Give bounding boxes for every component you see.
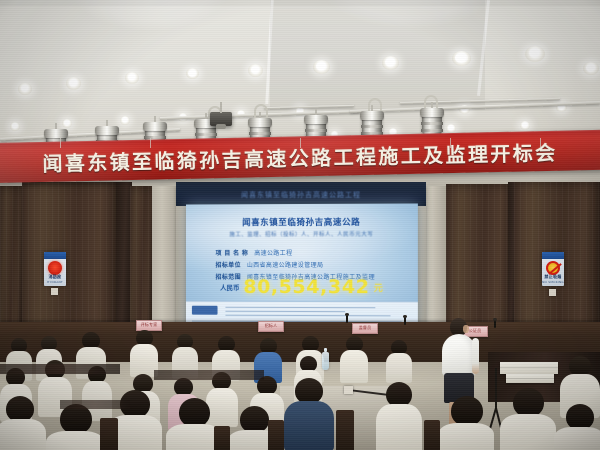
name-placard: 监督员 [352, 323, 378, 334]
sign-header-bar [542, 252, 564, 259]
wood-panel-right-inner [446, 184, 512, 338]
audience-person [386, 340, 412, 382]
placard-text: 评标专家 [137, 321, 161, 329]
chair [424, 420, 440, 450]
amount-prefix: 人民币 [220, 284, 239, 292]
sign-caption-sub: NO SMOKING [542, 280, 564, 284]
chair [268, 420, 284, 450]
slide-row: 项 目 名 称高速公路工程 [216, 248, 293, 257]
projector [210, 112, 232, 126]
downlight-icon [313, 60, 330, 74]
downlight-icon [66, 77, 81, 90]
slide-footer-line [225, 311, 345, 312]
person-shirt [284, 401, 334, 450]
document-stack [506, 374, 554, 383]
person-head [179, 398, 210, 427]
slide-row: 招标单位山西省高速公路建设管理局 [216, 260, 324, 269]
sign-caption-sub: FIRE HYDRANT [44, 276, 66, 284]
person-shirt [386, 353, 412, 383]
microphone [404, 317, 406, 325]
person-shirt [442, 334, 476, 376]
audience-person-foreground [554, 404, 600, 450]
slide-footer-line [225, 315, 390, 317]
amount-value: 80,554,342 [243, 276, 369, 298]
person-head [513, 388, 544, 417]
person-face [463, 325, 469, 333]
name-placard: 招标人 [258, 321, 284, 332]
screen-top-strip: 闻喜东镇至临猗孙吉高速公路工程 [176, 182, 426, 206]
document-stack [500, 362, 558, 374]
downlight-icon [525, 46, 545, 62]
slide-bid-amount: 人民币80,554,342元 [186, 276, 418, 298]
person-shirt [46, 431, 104, 450]
person-shirt [500, 414, 556, 450]
slide-subtitle: 施工、监理、招标（投标）人、开标人、人民币元大写 [186, 230, 418, 239]
placard-text: 监督员 [353, 324, 377, 332]
slide-row-label: 项 目 名 称 [216, 250, 249, 257]
person-shirt [438, 423, 494, 450]
person-head [240, 406, 269, 433]
projection-screen: 闻喜东镇至临猗孙吉高速公路 施工、监理、招标（投标）人、开标人、人民币元大写 项… [186, 203, 418, 328]
fire-icon [48, 261, 62, 275]
downlight-icon [120, 116, 130, 125]
slide-title: 闻喜东镇至临猗孙吉高速公路 [186, 216, 418, 229]
downlight-icon [186, 68, 199, 79]
downlight-icon [62, 119, 72, 128]
chair [100, 418, 118, 450]
chair [336, 410, 354, 450]
microphone [494, 320, 496, 328]
audience-desk [0, 364, 120, 374]
slide-row-value: 高速公路工程 [254, 250, 292, 257]
rail-hook [254, 104, 268, 118]
audience-desk [154, 370, 264, 380]
amount-unit: 元 [374, 284, 383, 294]
downlight-icon [452, 51, 471, 66]
downlight-icon [10, 122, 20, 131]
ceiling [0, 0, 600, 152]
wood-door-left [22, 182, 118, 338]
slide-row-label: 招标单位 [216, 262, 241, 269]
water-bottle [322, 352, 329, 370]
audience-person [340, 336, 368, 382]
downlight-icon [446, 124, 456, 133]
audience-person-foreground [0, 396, 46, 450]
banner-strings [0, 138, 600, 148]
conference-photo: 消防栓 FIRE HYDRANT 禁止吸烟 NO SMOKING 闻喜东镇至临猗… [0, 0, 600, 450]
floor-socket [344, 386, 353, 394]
audience-desk [60, 400, 130, 409]
person-arm [472, 338, 479, 374]
audience-person-foreground [284, 378, 334, 450]
placard-text: 招标人 [259, 322, 283, 330]
wood-panel-left-inner [130, 186, 152, 336]
switch-box[interactable] [51, 288, 58, 295]
person-shirt [554, 427, 600, 450]
person-head [569, 356, 591, 376]
person-head [451, 396, 483, 426]
no-smoking-sign: 禁止吸烟 NO SMOKING [542, 252, 564, 286]
person-shirt [376, 404, 422, 450]
slide-footer-line [225, 307, 375, 308]
audience-person-foreground [500, 388, 556, 450]
audience-person-foreground [376, 382, 422, 450]
downlight-icon [125, 72, 139, 84]
downlight-icon [18, 83, 32, 95]
switch-box[interactable] [549, 289, 556, 296]
microphone [346, 315, 348, 323]
sign-header-bar [44, 252, 66, 259]
audience-person-foreground [438, 396, 494, 450]
wood-panel-left-edge [0, 186, 22, 336]
chair [214, 426, 230, 450]
slide-footer-logo [192, 306, 218, 315]
downlight-icon [520, 121, 530, 130]
no-smoking-icon [546, 261, 560, 275]
slide-row-value: 山西省高速公路建设管理局 [247, 262, 324, 269]
person-shirt [0, 419, 46, 450]
downlight-icon [583, 62, 599, 75]
screen-top-strip-text: 闻喜东镇至临猗孙吉高速公路工程 [176, 190, 426, 200]
downlight-icon [248, 64, 263, 77]
person-shirt [340, 350, 368, 383]
downlight-icon [382, 56, 399, 70]
fire-alarm-sign: 消防栓 FIRE HYDRANT [44, 252, 66, 286]
audience-person-foreground [46, 404, 104, 450]
